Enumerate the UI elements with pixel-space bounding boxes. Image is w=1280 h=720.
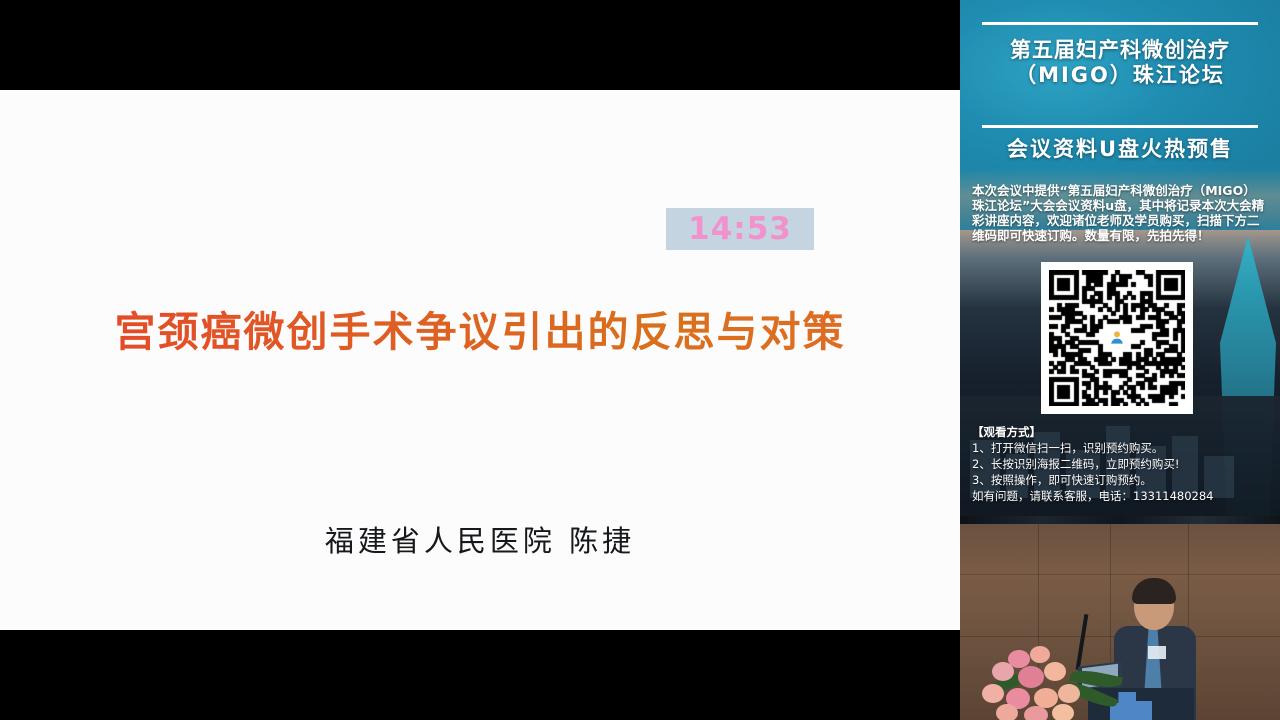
- name-badge: [1148, 646, 1166, 659]
- poster-heading-line-1: 第五届妇产科微创治疗: [960, 38, 1280, 63]
- presentation-timer: 14:53: [666, 208, 814, 250]
- watch-step-2: 2、长按识别海报二维码，立即预约购买!: [972, 456, 1272, 472]
- webinar-screen: 14:53 宫颈癌微创手术争议引出的反思与对策 福建省人民医院 陈捷: [0, 0, 1280, 720]
- flower-arrangement: [978, 644, 1118, 720]
- poster-heading-line-2: （MIGO）珠江论坛: [960, 63, 1280, 88]
- watch-step-3: 3、按照操作，即可快速订购预约。: [972, 472, 1272, 488]
- poster-body-text: 本次会议中提供“第五届妇产科微创治疗（MIGO）珠江论坛”大会会议资料u盘，其中…: [972, 183, 1268, 243]
- letterbox-top: [0, 0, 960, 90]
- slide-title: 宫颈癌微创手术争议引出的反思与对策: [0, 298, 960, 358]
- poster-divider-top: [982, 22, 1258, 25]
- slide-presenter: 福建省人民医院 陈捷: [0, 518, 960, 560]
- customer-service-contact: 如有问题，请联系客服，电话：13311480284: [972, 488, 1272, 504]
- poster-subheading: 会议资料U盘火热预售: [960, 133, 1280, 163]
- qr-code-center-logo: [1108, 329, 1126, 347]
- timer-value: 14:53: [688, 214, 792, 245]
- watch-step-1: 1、打开微信扫一扫，识别预约购买。: [972, 440, 1272, 456]
- presentation-slide: 14:53 宫颈癌微创手术争议引出的反思与对策 福建省人民医院 陈捷: [0, 90, 960, 630]
- speaker-video-feed[interactable]: [960, 516, 1280, 720]
- poster-heading: 第五届妇产科微创治疗 （MIGO）珠江论坛: [960, 38, 1280, 88]
- letterbox-bottom: [0, 630, 960, 720]
- promo-poster[interactable]: 第五届妇产科微创治疗 （MIGO）珠江论坛 会议资料U盘火热预售 本次会议中提供…: [960, 0, 1280, 516]
- slide-stage[interactable]: 14:53 宫颈癌微创手术争议引出的反思与对策 福建省人民医院 陈捷: [0, 0, 960, 720]
- poster-divider-middle: [982, 125, 1258, 128]
- watch-instructions-header: 【观看方式】: [972, 424, 1272, 440]
- watch-instructions: 【观看方式】 1、打开微信扫一扫，识别预约购买。 2、长按识别海报二维码，立即预…: [972, 424, 1272, 504]
- ceiling-strip: [960, 516, 1280, 524]
